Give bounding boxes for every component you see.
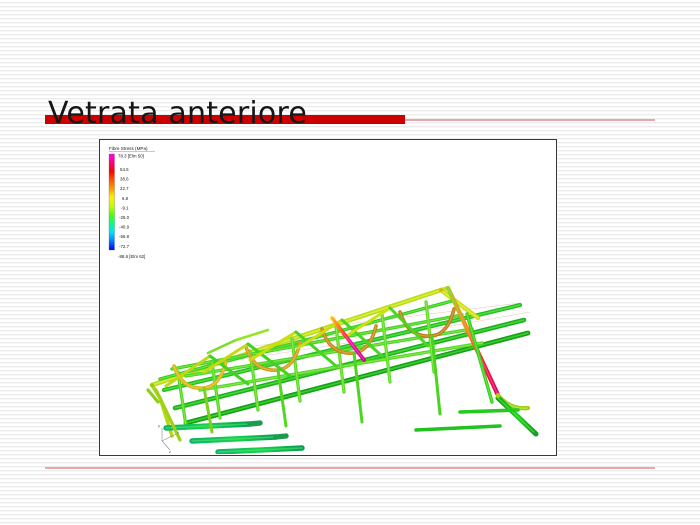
legend-title: Fibre Stress (MPa) <box>109 146 148 151</box>
fea-plot-panel: Fibre Stress (MPa) 78.3 [Elm 50] 54.5 38… <box>99 139 557 456</box>
legend-tick-4: -9.1 <box>121 205 129 210</box>
fea-stress-plot: Fibre Stress (MPa) 78.3 [Elm 50] 54.5 38… <box>100 140 555 454</box>
slide-canvas: Vetrata anteriore <box>0 0 700 525</box>
legend-tick-1: 38.6 <box>120 177 129 182</box>
legend-tick-6: -40.9 <box>119 225 130 230</box>
legend-colorbar <box>109 154 115 250</box>
legend-tick-3: 6.8 <box>122 196 129 201</box>
triad-y-label: y <box>158 423 160 428</box>
triad-z-label: z <box>169 449 171 454</box>
legend-min-label: -88.6 [Elm 62] <box>118 254 145 259</box>
legend-tick-2: 22.7 <box>120 186 129 191</box>
triad-x-label: x <box>177 430 179 435</box>
legend-tick-5: -25.0 <box>119 215 130 220</box>
page-title: Vetrata anteriore <box>48 96 307 131</box>
legend-tick-7: -56.8 <box>119 234 130 239</box>
legend-tick-0: 54.5 <box>120 167 129 172</box>
legend-tick-8: -72.7 <box>119 244 130 249</box>
legend-max-label: 78.3 [Elm 50] <box>118 154 144 159</box>
footer-rule <box>45 467 655 469</box>
